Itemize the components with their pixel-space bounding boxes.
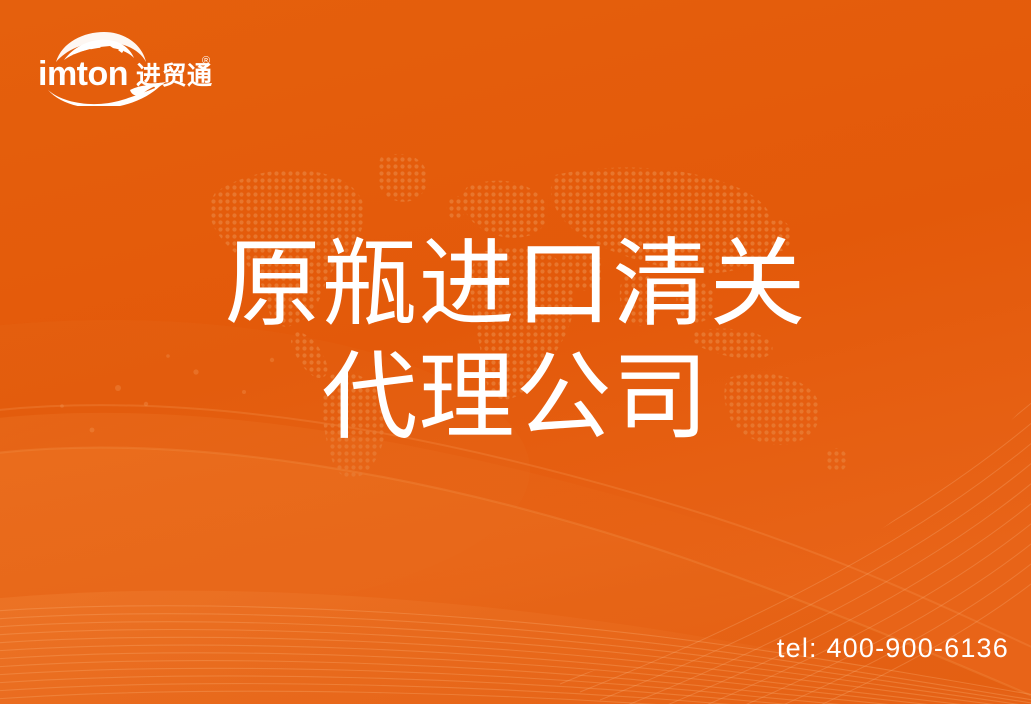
company-logo[interactable]: imton 进贸通 ®: [34, 28, 244, 106]
poster-canvas: imton 进贸通 ® 原瓶进口清关 代理公司 tel: 400-900-613…: [0, 0, 1031, 704]
contact-phone[interactable]: tel: 400-900-6136: [777, 633, 1009, 664]
logo-wordmark: imton: [38, 55, 128, 93]
logo-trademark-icon: ®: [202, 55, 210, 67]
